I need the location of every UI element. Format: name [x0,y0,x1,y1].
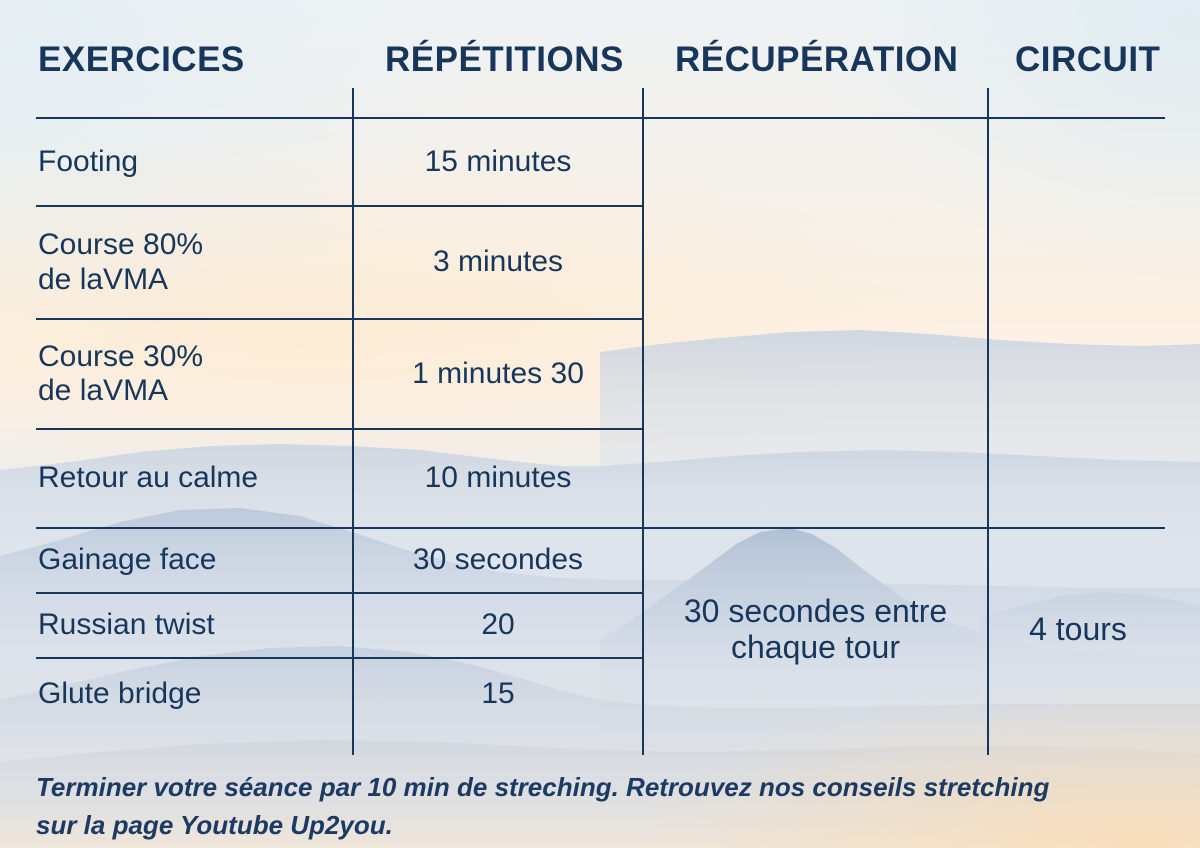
table-row-repetitions-6: 15 [354,659,642,729]
exercise-name-line2: de laVMA [38,374,203,408]
footnote-line-1: Terminer votre séance par 10 min de stre… [36,768,1166,806]
column-header-repetitions: RÉPÉTITIONS [385,42,624,77]
repetitions-value: 30 secondes [413,543,583,577]
exercise-name: Course 30% [38,340,203,374]
repetitions-value: 15 minutes [425,145,572,179]
circuit-value: 4 tours [1029,611,1127,647]
table-row-repetitions-0: 15 minutes [354,119,642,205]
workout-plan-table-image: EXERCICES RÉPÉTITIONS RÉCUPÉRATION CIRCU… [0,0,1200,848]
workout-table: EXERCICES RÉPÉTITIONS RÉCUPÉRATION CIRCU… [0,0,1200,848]
column-header-recuperation: RÉCUPÉRATION [675,42,958,77]
table-row-exercise-2: Course 30% de laVMA [38,320,338,428]
footnote: Terminer votre séance par 10 min de stre… [36,768,1166,845]
table-row-exercise-1: Course 80% de laVMA [38,207,338,318]
table-row-repetitions-4: 30 secondes [354,529,642,592]
circuit-merged-cell: 4 tours [989,529,1167,729]
table-row-repetitions-3: 10 minutes [354,430,642,527]
exercise-name: Retour au calme [38,461,258,495]
exercise-name: Glute bridge [38,677,201,711]
repetitions-value: 3 minutes [433,245,563,279]
table-row-repetitions-2: 1 minutes 30 [354,320,642,428]
exercise-name: Footing [38,145,138,179]
repetitions-value: 20 [481,608,514,642]
exercise-name: Course 80% [38,228,203,262]
repetitions-value: 15 [481,677,514,711]
recuperation-line-1: 30 secondes entre [684,593,947,629]
exercise-name: Russian twist [38,608,215,642]
table-row-repetitions-5: 20 [354,594,642,657]
recuperation-merged-cell: 30 secondes entre chaque tour [644,529,987,729]
column-header-circuit: CIRCUIT [1015,42,1160,77]
table-row-exercise-5: Russian twist [38,594,338,657]
recuperation-line-2: chaque tour [684,629,947,665]
table-row-exercise-3: Retour au calme [38,430,338,527]
repetitions-value: 1 minutes 30 [412,357,584,391]
table-row-exercise-4: Gainage face [38,529,338,592]
table-row-exercise-6: Glute bridge [38,659,338,729]
exercise-name: Gainage face [38,543,216,577]
column-header-exercices: EXERCICES [38,42,245,77]
exercise-name-line2: de laVMA [38,263,203,297]
table-row-exercise-0: Footing [38,119,338,205]
table-row-repetitions-1: 3 minutes [354,207,642,318]
repetitions-value: 10 minutes [425,461,572,495]
footnote-line-2: sur la page Youtube Up2you. [36,806,1166,844]
